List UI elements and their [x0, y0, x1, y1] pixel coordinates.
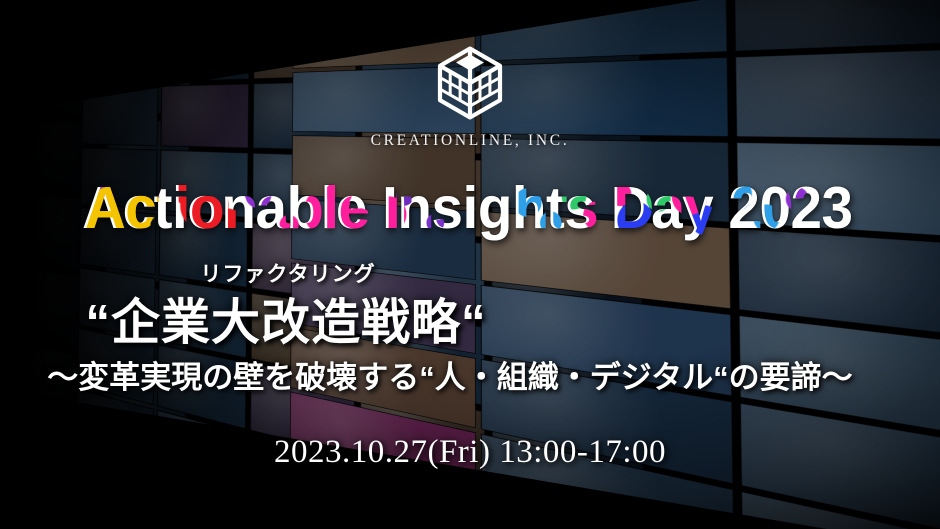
- brand-block: CREATIONLINE, INC.: [0, 46, 940, 150]
- event-tagline: 〜変革実現の壁を破壊する“人・組織・デジタル“の要諦〜: [0, 352, 920, 397]
- event-date: 2023.10.27(Fri) 13:00-17:00: [0, 434, 940, 471]
- creationline-cube-logo-icon: [437, 46, 503, 120]
- event-title: Actionable Insights Day 2023Actionable I…: [19, 179, 921, 238]
- event-banner: CREATIONLINE, INC. Actionable Insights D…: [0, 0, 940, 529]
- company-name: CREATIONLINE, INC.: [0, 132, 940, 150]
- event-headline: “企業大改造戦略“: [0, 283, 756, 354]
- event-title-text: Actionable Insights Day 2023: [85, 179, 855, 238]
- banner-content: CREATIONLINE, INC. Actionable Insights D…: [0, 0, 940, 529]
